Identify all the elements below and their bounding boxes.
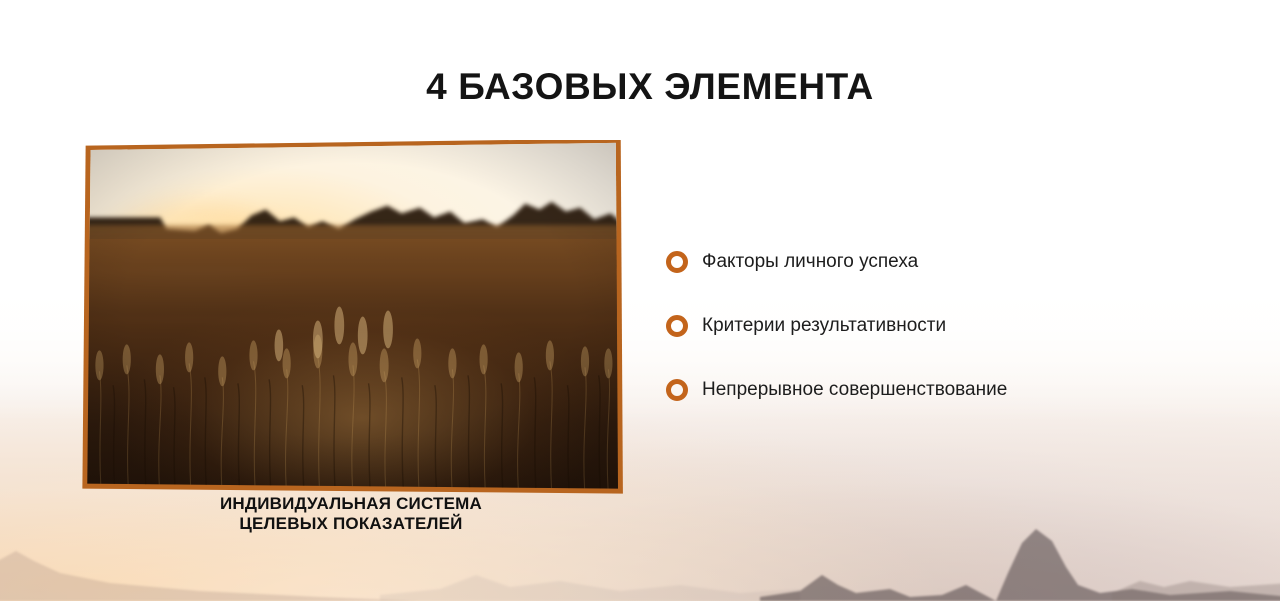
list-item[interactable]: Непрерывное совершенствование [666, 371, 1226, 409]
bullet-label-3: Непрерывное совершенствование [702, 379, 1007, 401]
photo-caption-line-1: ИНДИВИДУАЛЬНАЯ СИСТЕМА [78, 494, 624, 514]
photo-caption: ИНДИВИДУАЛЬНАЯ СИСТЕМА ЦЕЛЕВЫХ ПОКАЗАТЕЛ… [78, 494, 624, 534]
background-ridge-center [380, 531, 800, 601]
list-item[interactable]: Факторы личного успеха [666, 243, 1226, 281]
slide-title: 4 БАЗОВЫХ ЭЛЕМЕНТА [0, 66, 1280, 108]
presentation-slide: 4 БАЗОВЫХ ЭЛЕМЕНТА [0, 0, 1280, 601]
photo-card[interactable] [78, 140, 624, 495]
list-item[interactable]: Критерии результативности [666, 307, 1226, 345]
ring-bullet-icon [666, 315, 688, 337]
ring-bullet-icon [666, 379, 688, 401]
photo-wheat-stalks [78, 140, 624, 495]
bullet-list: Факторы личного успеха Критерии результа… [666, 243, 1226, 409]
bullet-label-2: Критерии результативности [702, 315, 946, 337]
photo-image [78, 140, 624, 495]
ring-bullet-icon [666, 251, 688, 273]
bullet-label-1: Факторы личного успеха [702, 251, 918, 273]
background-peak-silhouette [760, 481, 1280, 601]
photo-caption-line-2: ЦЕЛЕВЫХ ПОКАЗАТЕЛЕЙ [78, 514, 624, 534]
